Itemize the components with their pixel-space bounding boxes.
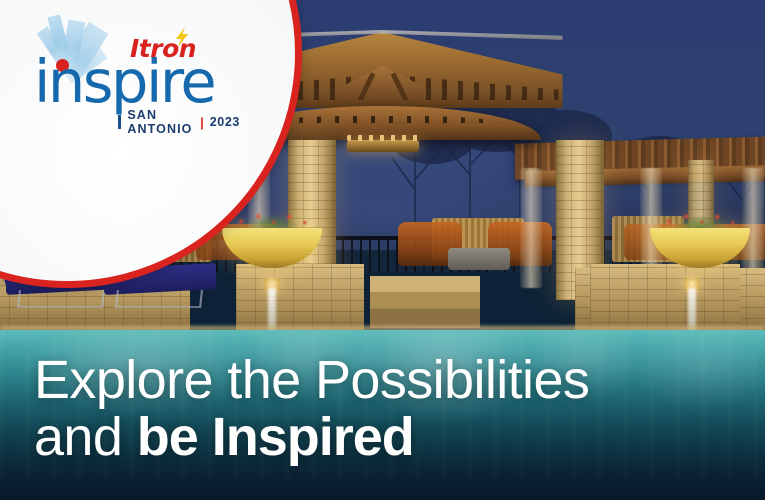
headline-line-2-bold: be Inspired <box>137 407 414 467</box>
event-city: SAN ANTONIO <box>127 108 194 136</box>
gable-arch-bolts <box>267 116 497 123</box>
location-separator: | <box>200 115 204 130</box>
location-accent-bar <box>118 115 121 129</box>
chandelier-light <box>347 140 419 152</box>
curtain-drape-4 <box>520 168 542 288</box>
ottoman <box>448 248 510 270</box>
event-year: 2023 <box>210 115 240 129</box>
headline-line-1: Explore the Possibilities <box>34 352 734 409</box>
inspire-wordmark: inspire <box>34 52 214 111</box>
inspire-logo: Itron inspire SAN ANTONIO | 2023 <box>22 8 237 126</box>
event-banner: Itron inspire SAN ANTONIO | 2023 Explore… <box>0 0 765 500</box>
event-location-line: SAN ANTONIO | 2023 <box>118 108 240 136</box>
headline-line-2: and be Inspired <box>34 409 734 466</box>
headline-block: Explore the Possibilities and be Inspire… <box>34 352 734 466</box>
headline-line-2-light: and <box>34 407 137 467</box>
